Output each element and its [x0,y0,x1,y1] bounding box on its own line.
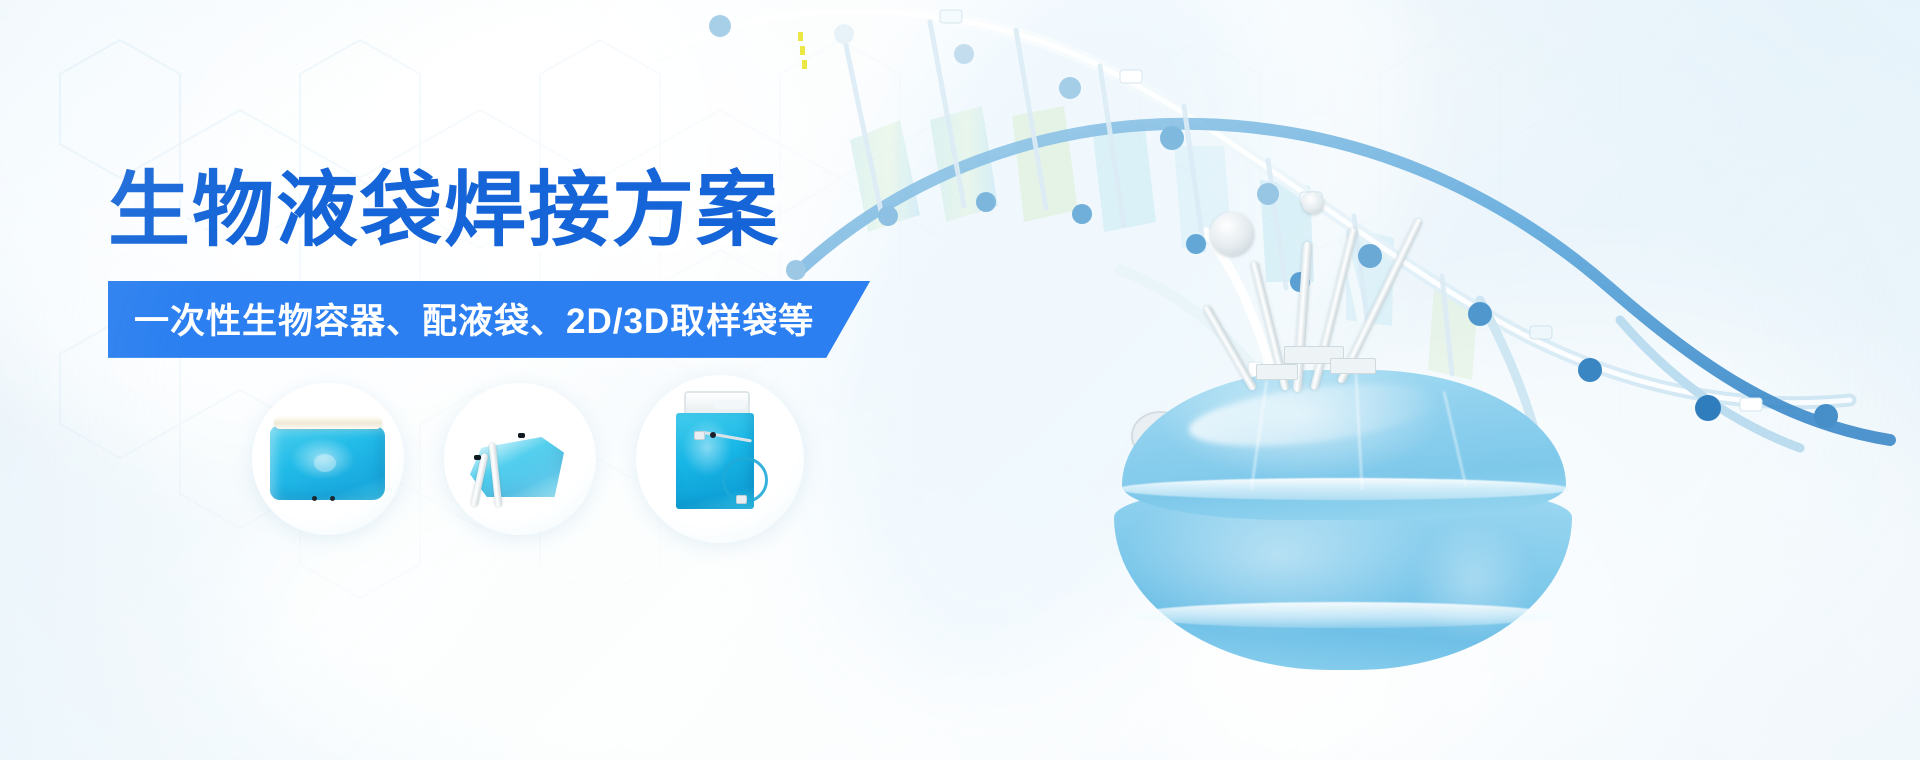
product-thumb-sampling-bag[interactable] [636,375,804,543]
cube-liquid-bag-art [462,423,580,507]
bag-port [312,496,317,501]
bag-highlight [1408,520,1538,640]
product-thumbnail-group [252,383,872,563]
tube-clamp [1330,358,1376,374]
hero-copy-block: 生物液袋焊接方案 一次性生物容器、配液袋、2D/3D取样袋等 [108,168,868,358]
port-manifold [1180,150,1520,390]
bag-body [270,426,385,500]
hexagon-molecule-pattern [0,0,1920,760]
manifold-tube [1203,304,1258,391]
bioreactor-liquid-bag [1108,370,1578,670]
bag-port [710,432,716,438]
port-cap [1302,192,1324,214]
bag-highlight [314,454,336,472]
bag-port [330,496,335,501]
bag-weld-seam [1118,478,1570,500]
bag-hanger-slot [714,400,746,409]
bag-connector [694,431,705,440]
page-title: 生物液袋焊接方案 [108,168,868,255]
hero-banner: 生物液袋焊接方案 一次性生物容器、配液袋、2D/3D取样袋等 [0,0,1920,760]
product-thumb-3d-cube-liquid-bag[interactable] [444,383,596,535]
edge-vignette [0,0,1920,760]
sampling-bag-art [670,391,774,531]
subtitle-banner: 一次性生物容器、配液袋、2D/3D取样袋等 [108,281,870,358]
tube-clamp [1256,364,1298,380]
bag-port [474,455,481,460]
filter-disc [1210,212,1254,256]
bag-top-seal [274,417,382,429]
product-thumb-2d-flat-liquid-bag[interactable] [252,383,404,535]
bag-connector [736,495,747,504]
bag-port [518,433,525,438]
flat-liquid-bag-art [268,417,388,503]
